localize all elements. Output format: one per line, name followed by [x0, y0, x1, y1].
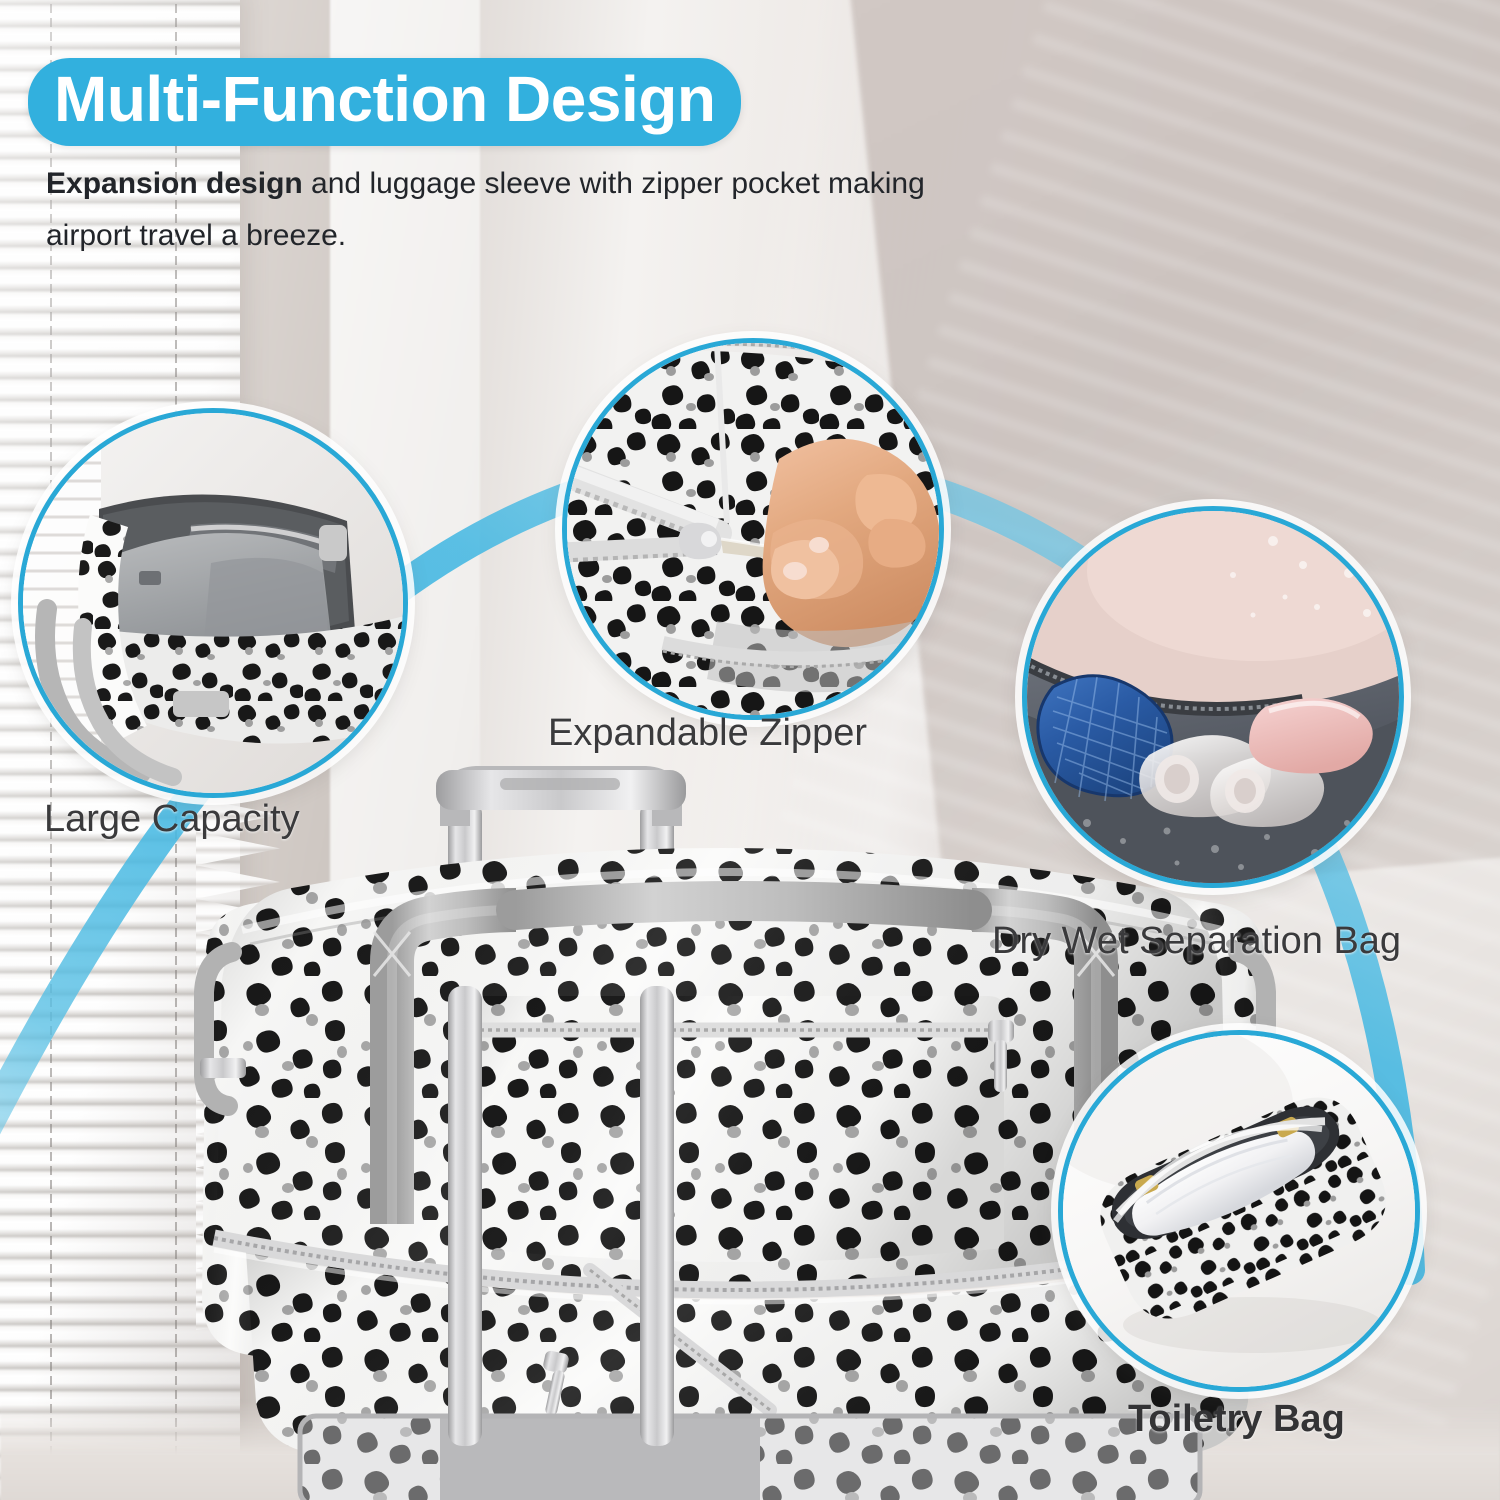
caption-toiletry-bag: Toiletry Bag [1128, 1398, 1345, 1441]
product-infographic: Multi-Function Design Expansion design a… [0, 0, 1500, 1500]
soap-bar [1249, 698, 1373, 773]
subheadline-emphasis: Expansion design [46, 167, 303, 200]
large-capacity-photo [23, 413, 403, 793]
headline-badge: Multi-Function Design [28, 58, 741, 146]
dry-wet-separation-photo [1027, 511, 1399, 883]
feature-circle-dry-wet-separation [1022, 506, 1404, 888]
toiletry-bag-photo [1063, 1035, 1415, 1387]
feature-circle-expandable-zipper [562, 338, 944, 720]
subheadline: Expansion design and luggage sleeve with… [46, 158, 946, 262]
luggage-sleeve-panel [470, 996, 1014, 1262]
caption-dry-wet-separation: Dry Wet Separation Bag [992, 920, 1401, 963]
headline-text: Multi-Function Design [54, 67, 715, 131]
expandable-zipper-photo [567, 343, 939, 715]
feature-circle-toiletry-bag [1058, 1030, 1420, 1392]
caption-large-capacity: Large Capacity [44, 798, 300, 841]
feature-circle-large-capacity [18, 408, 408, 798]
caption-expandable-zipper: Expandable Zipper [548, 712, 867, 755]
suitcase-body [300, 1416, 1200, 1500]
